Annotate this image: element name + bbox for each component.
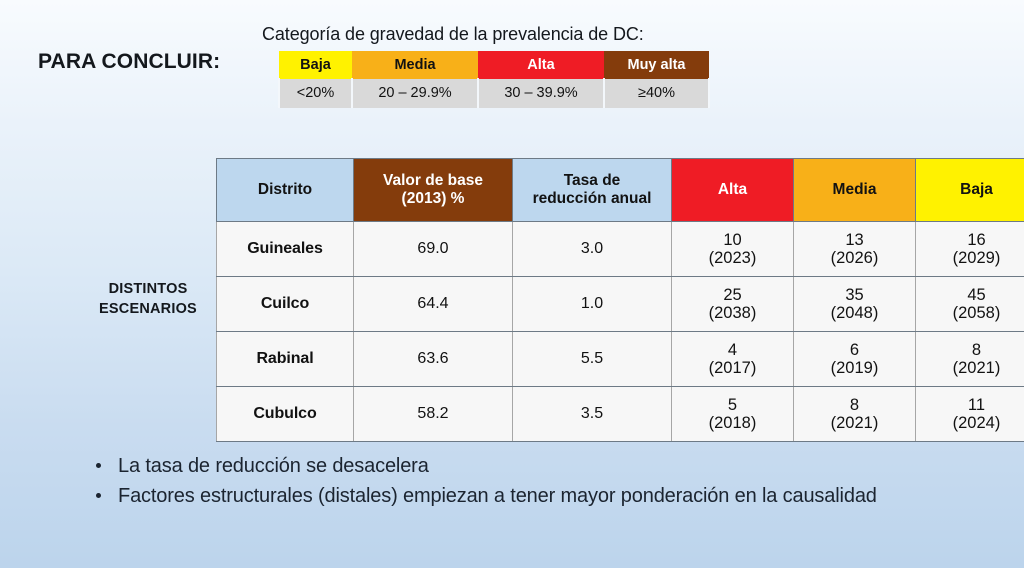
cell-tasa: 3.5 — [513, 387, 672, 442]
column-header-media: Media — [794, 159, 916, 222]
cell-baja-years: 11 — [968, 396, 985, 414]
cell-media: 6 (2019) — [794, 332, 916, 387]
list-item-text: Factores estructurales (distales) empiez… — [118, 485, 877, 507]
cell-valor-base: 69.0 — [354, 222, 513, 277]
cell-alta-target: (2038) — [709, 304, 757, 322]
column-header-valor-base: Valor de base (2013) % — [354, 159, 513, 222]
page-title: PARA CONCLUIR: — [38, 50, 220, 74]
cell-media-target: (2021) — [831, 414, 879, 432]
cell-tasa: 3.0 — [513, 222, 672, 277]
legend-range-alta: 30 – 39.9% — [478, 79, 604, 108]
scenarios-label: DISTINTOS ESCENARIOS — [82, 280, 214, 319]
cell-alta-target: (2018) — [709, 414, 757, 432]
cell-alta-years: 10 — [723, 231, 741, 249]
list-item-text: La tasa de reducción se desacelera — [118, 455, 429, 477]
table-row: Cubulco 58.2 3.5 5 (2018) 8 (2021) — [217, 387, 1024, 442]
legend-range-row: <20% 20 – 29.9% 30 – 39.9% ≥40% — [279, 79, 709, 108]
cell-alta: 4 (2017) — [672, 332, 794, 387]
cell-alta: 5 (2018) — [672, 387, 794, 442]
conclusion-bullet-list: La tasa de reducción se desacelera Facto… — [90, 452, 970, 513]
list-item: La tasa de reducción se desacelera — [90, 452, 970, 480]
legend-range-baja: <20% — [279, 79, 352, 108]
legend-cell-alta: Alta — [478, 51, 604, 79]
cell-baja-target: (2058) — [953, 304, 1001, 322]
legend-cell-baja: Baja — [279, 51, 352, 79]
column-header-valor-base-line1: Valor de base — [383, 172, 483, 189]
table-row: Rabinal 63.6 5.5 4 (2017) 6 (2019) — [217, 332, 1024, 387]
cell-baja-years: 45 — [967, 286, 985, 304]
cell-alta: 25 (2038) — [672, 277, 794, 332]
bullet-dot-icon — [96, 493, 101, 498]
cell-media-years: 6 — [850, 341, 859, 359]
table-row: Guineales 69.0 3.0 10 (2023) 13 (2026) — [217, 222, 1024, 277]
column-header-baja: Baja — [916, 159, 1024, 222]
cell-valor-base: 63.6 — [354, 332, 513, 387]
cell-alta-years: 5 — [728, 396, 737, 414]
cell-baja-years: 16 — [967, 231, 985, 249]
cell-distrito: Rabinal — [217, 332, 354, 387]
cell-baja-years: 8 — [972, 341, 981, 359]
legend-category-row: Baja Media Alta Muy alta — [279, 51, 709, 79]
table-header-row: Distrito Valor de base (2013) % Tasa de … — [217, 159, 1024, 222]
cell-baja: 16 (2029) — [916, 222, 1024, 277]
column-header-tasa-line2: reducción anual — [533, 190, 652, 207]
cell-media-target: (2048) — [831, 304, 879, 322]
scenarios-table-container: Distrito Valor de base (2013) % Tasa de … — [216, 158, 995, 442]
cell-tasa: 5.5 — [513, 332, 672, 387]
legend-table: Baja Media Alta Muy alta <20% 20 – 29.9%… — [278, 50, 710, 108]
cell-media-years: 8 — [850, 396, 859, 414]
legend-caption: Categoría de gravedad de la prevalencia … — [262, 24, 710, 45]
cell-baja-target: (2024) — [953, 414, 1001, 432]
column-header-tasa: Tasa de reducción anual — [513, 159, 672, 222]
scenarios-label-line2: ESCENARIOS — [82, 300, 214, 320]
cell-media-years: 35 — [845, 286, 863, 304]
cell-distrito: Cuilco — [217, 277, 354, 332]
bullet-dot-icon — [96, 463, 101, 468]
cell-alta-target: (2017) — [709, 359, 757, 377]
cell-media-target: (2019) — [831, 359, 879, 377]
cell-valor-base: 64.4 — [354, 277, 513, 332]
cell-baja: 45 (2058) — [916, 277, 1024, 332]
cell-alta: 10 (2023) — [672, 222, 794, 277]
list-item: Factores estructurales (distales) empiez… — [90, 482, 970, 510]
legend-range-muy-alta: ≥40% — [604, 79, 709, 108]
cell-baja-target: (2021) — [953, 359, 1001, 377]
table-row: Cuilco 64.4 1.0 25 (2038) 35 (2048) — [217, 277, 1024, 332]
cell-distrito: Cubulco — [217, 387, 354, 442]
severity-legend: Categoría de gravedad de la prevalencia … — [262, 24, 710, 108]
cell-valor-base: 58.2 — [354, 387, 513, 442]
cell-media-years: 13 — [845, 231, 863, 249]
cell-alta-years: 4 — [728, 341, 737, 359]
cell-media: 35 (2048) — [794, 277, 916, 332]
column-header-valor-base-line2: (2013) % — [402, 190, 465, 207]
legend-cell-muy-alta: Muy alta — [604, 51, 709, 79]
cell-media: 8 (2021) — [794, 387, 916, 442]
cell-baja: 11 (2024) — [916, 387, 1024, 442]
scenarios-label-line1: DISTINTOS — [82, 280, 214, 300]
cell-media: 13 (2026) — [794, 222, 916, 277]
cell-tasa: 1.0 — [513, 277, 672, 332]
column-header-tasa-line1: Tasa de — [564, 172, 621, 189]
cell-baja-target: (2029) — [953, 249, 1001, 267]
cell-media-target: (2026) — [831, 249, 879, 267]
cell-alta-years: 25 — [723, 286, 741, 304]
cell-baja: 8 (2021) — [916, 332, 1024, 387]
scenarios-table: Distrito Valor de base (2013) % Tasa de … — [216, 158, 1024, 442]
column-header-distrito: Distrito — [217, 159, 354, 222]
column-header-alta: Alta — [672, 159, 794, 222]
cell-alta-target: (2023) — [709, 249, 757, 267]
cell-distrito: Guineales — [217, 222, 354, 277]
legend-cell-media: Media — [352, 51, 478, 79]
legend-range-media: 20 – 29.9% — [352, 79, 478, 108]
